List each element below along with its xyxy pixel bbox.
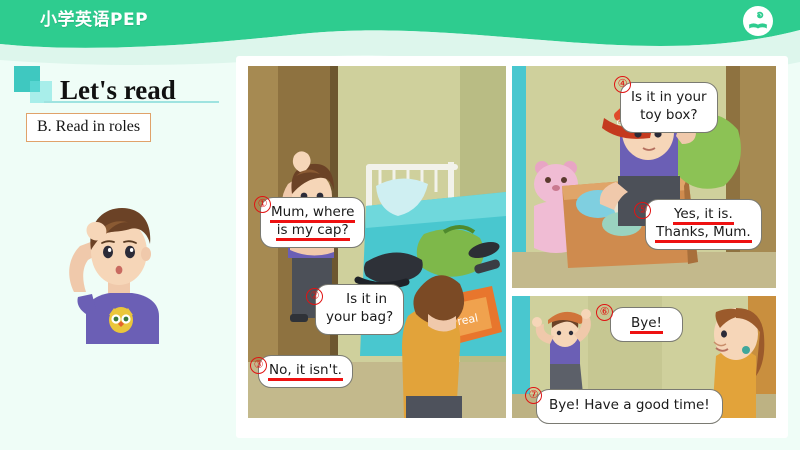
pep-open-book-logo-icon [743,6,773,36]
bubble-number-5: ⑤ [634,202,651,219]
bubble-6-line-1: Bye! [631,315,662,333]
bubble-2-line-1: Is it in [346,291,387,309]
task-label-box: B. Read in roles [26,113,151,142]
speech-bubble-6: Bye! [610,307,683,342]
slide-root: 小学英语PEP Let's read B. Read in roles [0,0,800,450]
bubble-1-line-1: Mum, where [271,204,354,222]
bubble-number-7: ⑦ [525,387,542,404]
speech-bubble-3: No, it isn't. [258,355,353,388]
bubble-5-line-1: Yes, it is. [674,206,733,224]
bubble-number-2: ② [306,288,323,305]
bubble-number-1: ① [254,196,271,213]
section-title-row: Let's read [14,64,176,106]
bubble-2-line-2: your bag? [326,309,393,327]
speech-bubble-1: Mum, where is my cap? [260,197,365,248]
title-underline-rule [44,101,219,103]
bubble-3-line-1: No, it isn't. [269,362,342,380]
speech-bubble-5: Yes, it is. Thanks, Mum. [645,199,762,250]
task-label-text: B. Read in roles [37,118,140,135]
bubble-number-4: ④ [614,76,631,93]
bubble-5-line-2: Thanks, Mum. [656,224,751,242]
boy-character-illustration [56,196,178,344]
bubble-7-line-1: Bye! Have a good time! [549,397,710,415]
comic-strip-card: Cereal [236,56,788,438]
square-decoration-icon [14,64,58,106]
speech-bubble-4: Is it in your toy box? [620,82,718,133]
speech-bubble-2: Is it in your bag? [315,284,404,335]
bubble-1-line-2: is my cap? [277,222,349,240]
bubble-number-3: ③ [250,357,267,374]
bubble-4-line-2: toy box? [640,107,697,125]
speech-bubble-7: Bye! Have a good time! [536,389,723,424]
brand-title: 小学英语PEP [40,5,148,30]
bubble-4-line-1: Is it in your [631,89,707,107]
bubble-number-6: ⑥ [596,304,613,321]
